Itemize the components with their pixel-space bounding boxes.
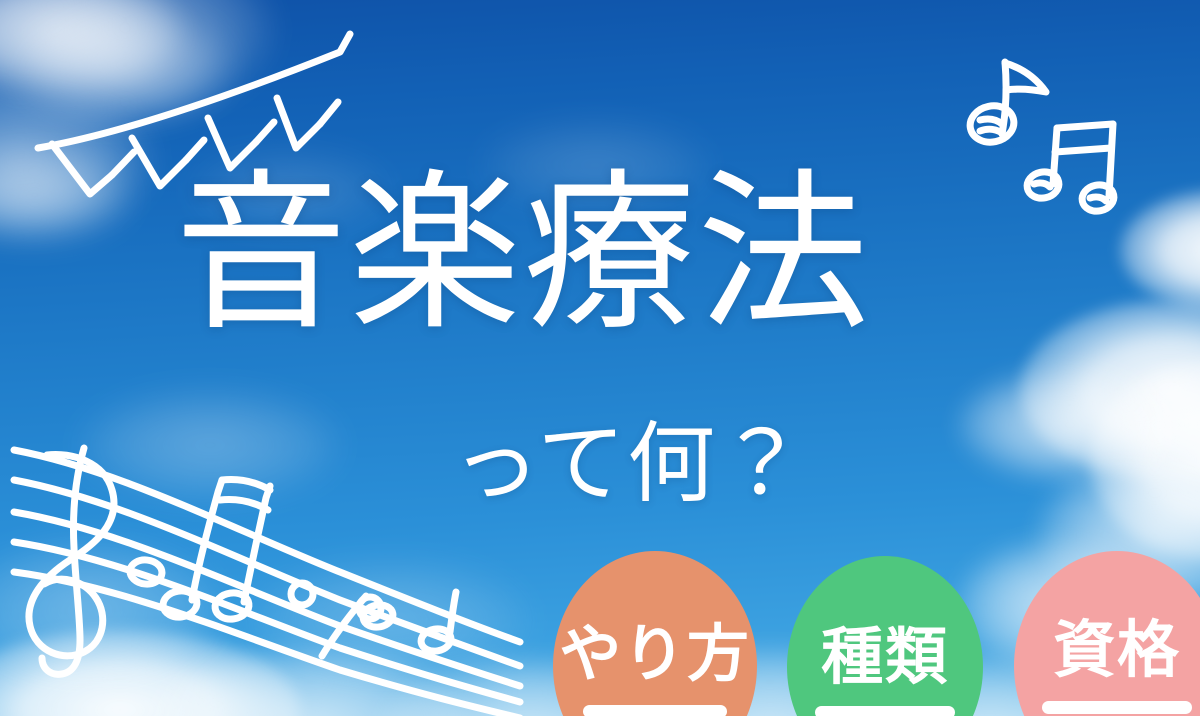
music-therapy-banner: 音楽療法 って何？ やり方 種類 資格 xyxy=(0,0,1200,716)
badge-shikaku-underline xyxy=(1042,701,1192,714)
badge-shikaku[interactable]: 資格 xyxy=(1014,551,1200,716)
badge-yarikata-underline xyxy=(583,705,727,716)
badge-shurui-underline xyxy=(815,706,955,716)
badge-yarikata-label: やり方 xyxy=(553,623,757,685)
badge-yarikata[interactable]: やり方 xyxy=(553,551,757,716)
badge-shikaku-label: 資格 xyxy=(1014,619,1200,681)
badge-shurui-label: 種類 xyxy=(787,626,983,688)
badge-group: やり方 種類 資格 xyxy=(0,0,1200,716)
badge-shurui[interactable]: 種類 xyxy=(787,556,983,716)
